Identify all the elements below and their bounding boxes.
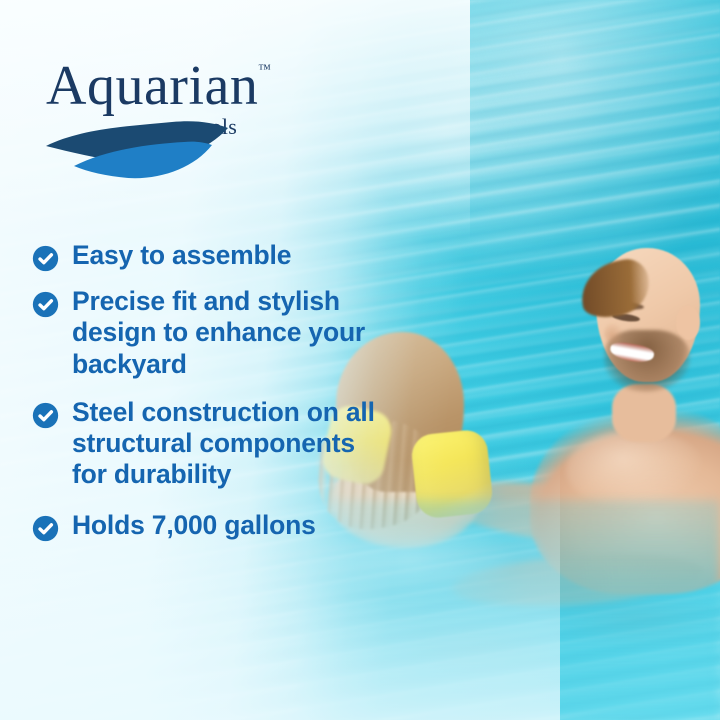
list-item: Easy to assemble [32, 240, 377, 272]
check-circle-icon [32, 402, 59, 429]
wave-swoosh-icon [44, 120, 234, 182]
brand-logo: Aquarian ™ pools [46, 58, 326, 114]
check-circle-icon [32, 515, 59, 542]
feature-text: Holds 7,000 gallons [72, 510, 316, 541]
check-circle-icon [32, 291, 59, 318]
feature-list: Easy to assemble Precise fit and stylish… [32, 240, 377, 556]
list-item: Steel construction on all structural com… [32, 397, 377, 491]
feature-text: Precise fit and stylish design to enhanc… [72, 286, 377, 380]
promo-image: Aquarian ™ pools Easy to assemble [0, 0, 720, 720]
list-item: Holds 7,000 gallons [32, 510, 377, 542]
list-item: Precise fit and stylish design to enhanc… [32, 286, 377, 380]
brand-name-text: Aquarian [46, 55, 258, 117]
feature-text: Steel construction on all structural com… [72, 397, 377, 491]
trademark-symbol: ™ [258, 62, 271, 75]
check-circle-icon [32, 245, 59, 272]
feature-text: Easy to assemble [72, 240, 291, 271]
brand-name: Aquarian ™ [46, 58, 258, 114]
